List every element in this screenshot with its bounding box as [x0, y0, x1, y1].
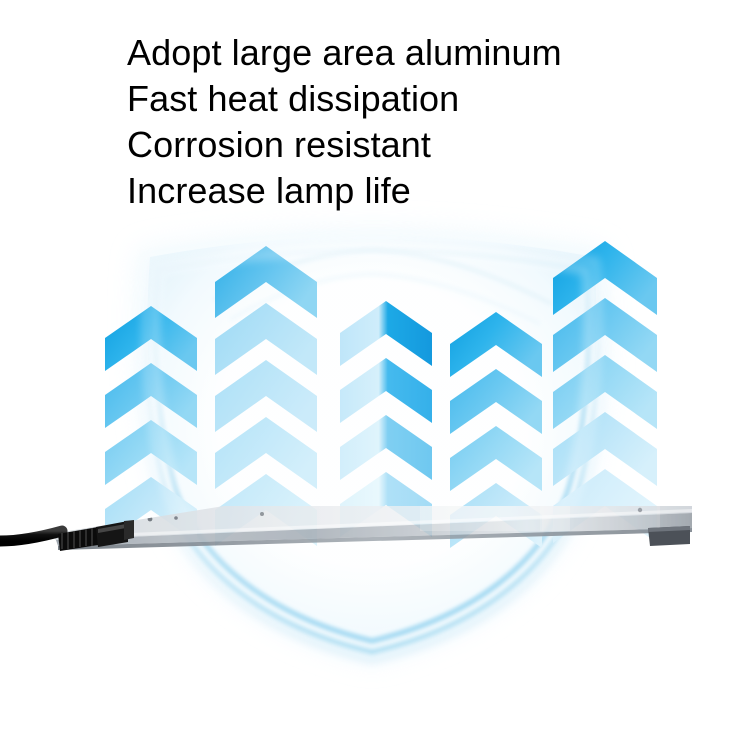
feature-line-4: Increase lamp life	[127, 168, 687, 214]
product-feature-image: Adopt large area aluminum Fast heat diss…	[0, 0, 750, 750]
feature-line-2: Fast heat dissipation	[127, 76, 687, 122]
feature-text-block: Adopt large area aluminum Fast heat diss…	[127, 30, 687, 214]
feature-line-3: Corrosion resistant	[127, 122, 687, 168]
cable-lead	[0, 531, 62, 541]
feature-line-1: Adopt large area aluminum	[127, 30, 687, 76]
